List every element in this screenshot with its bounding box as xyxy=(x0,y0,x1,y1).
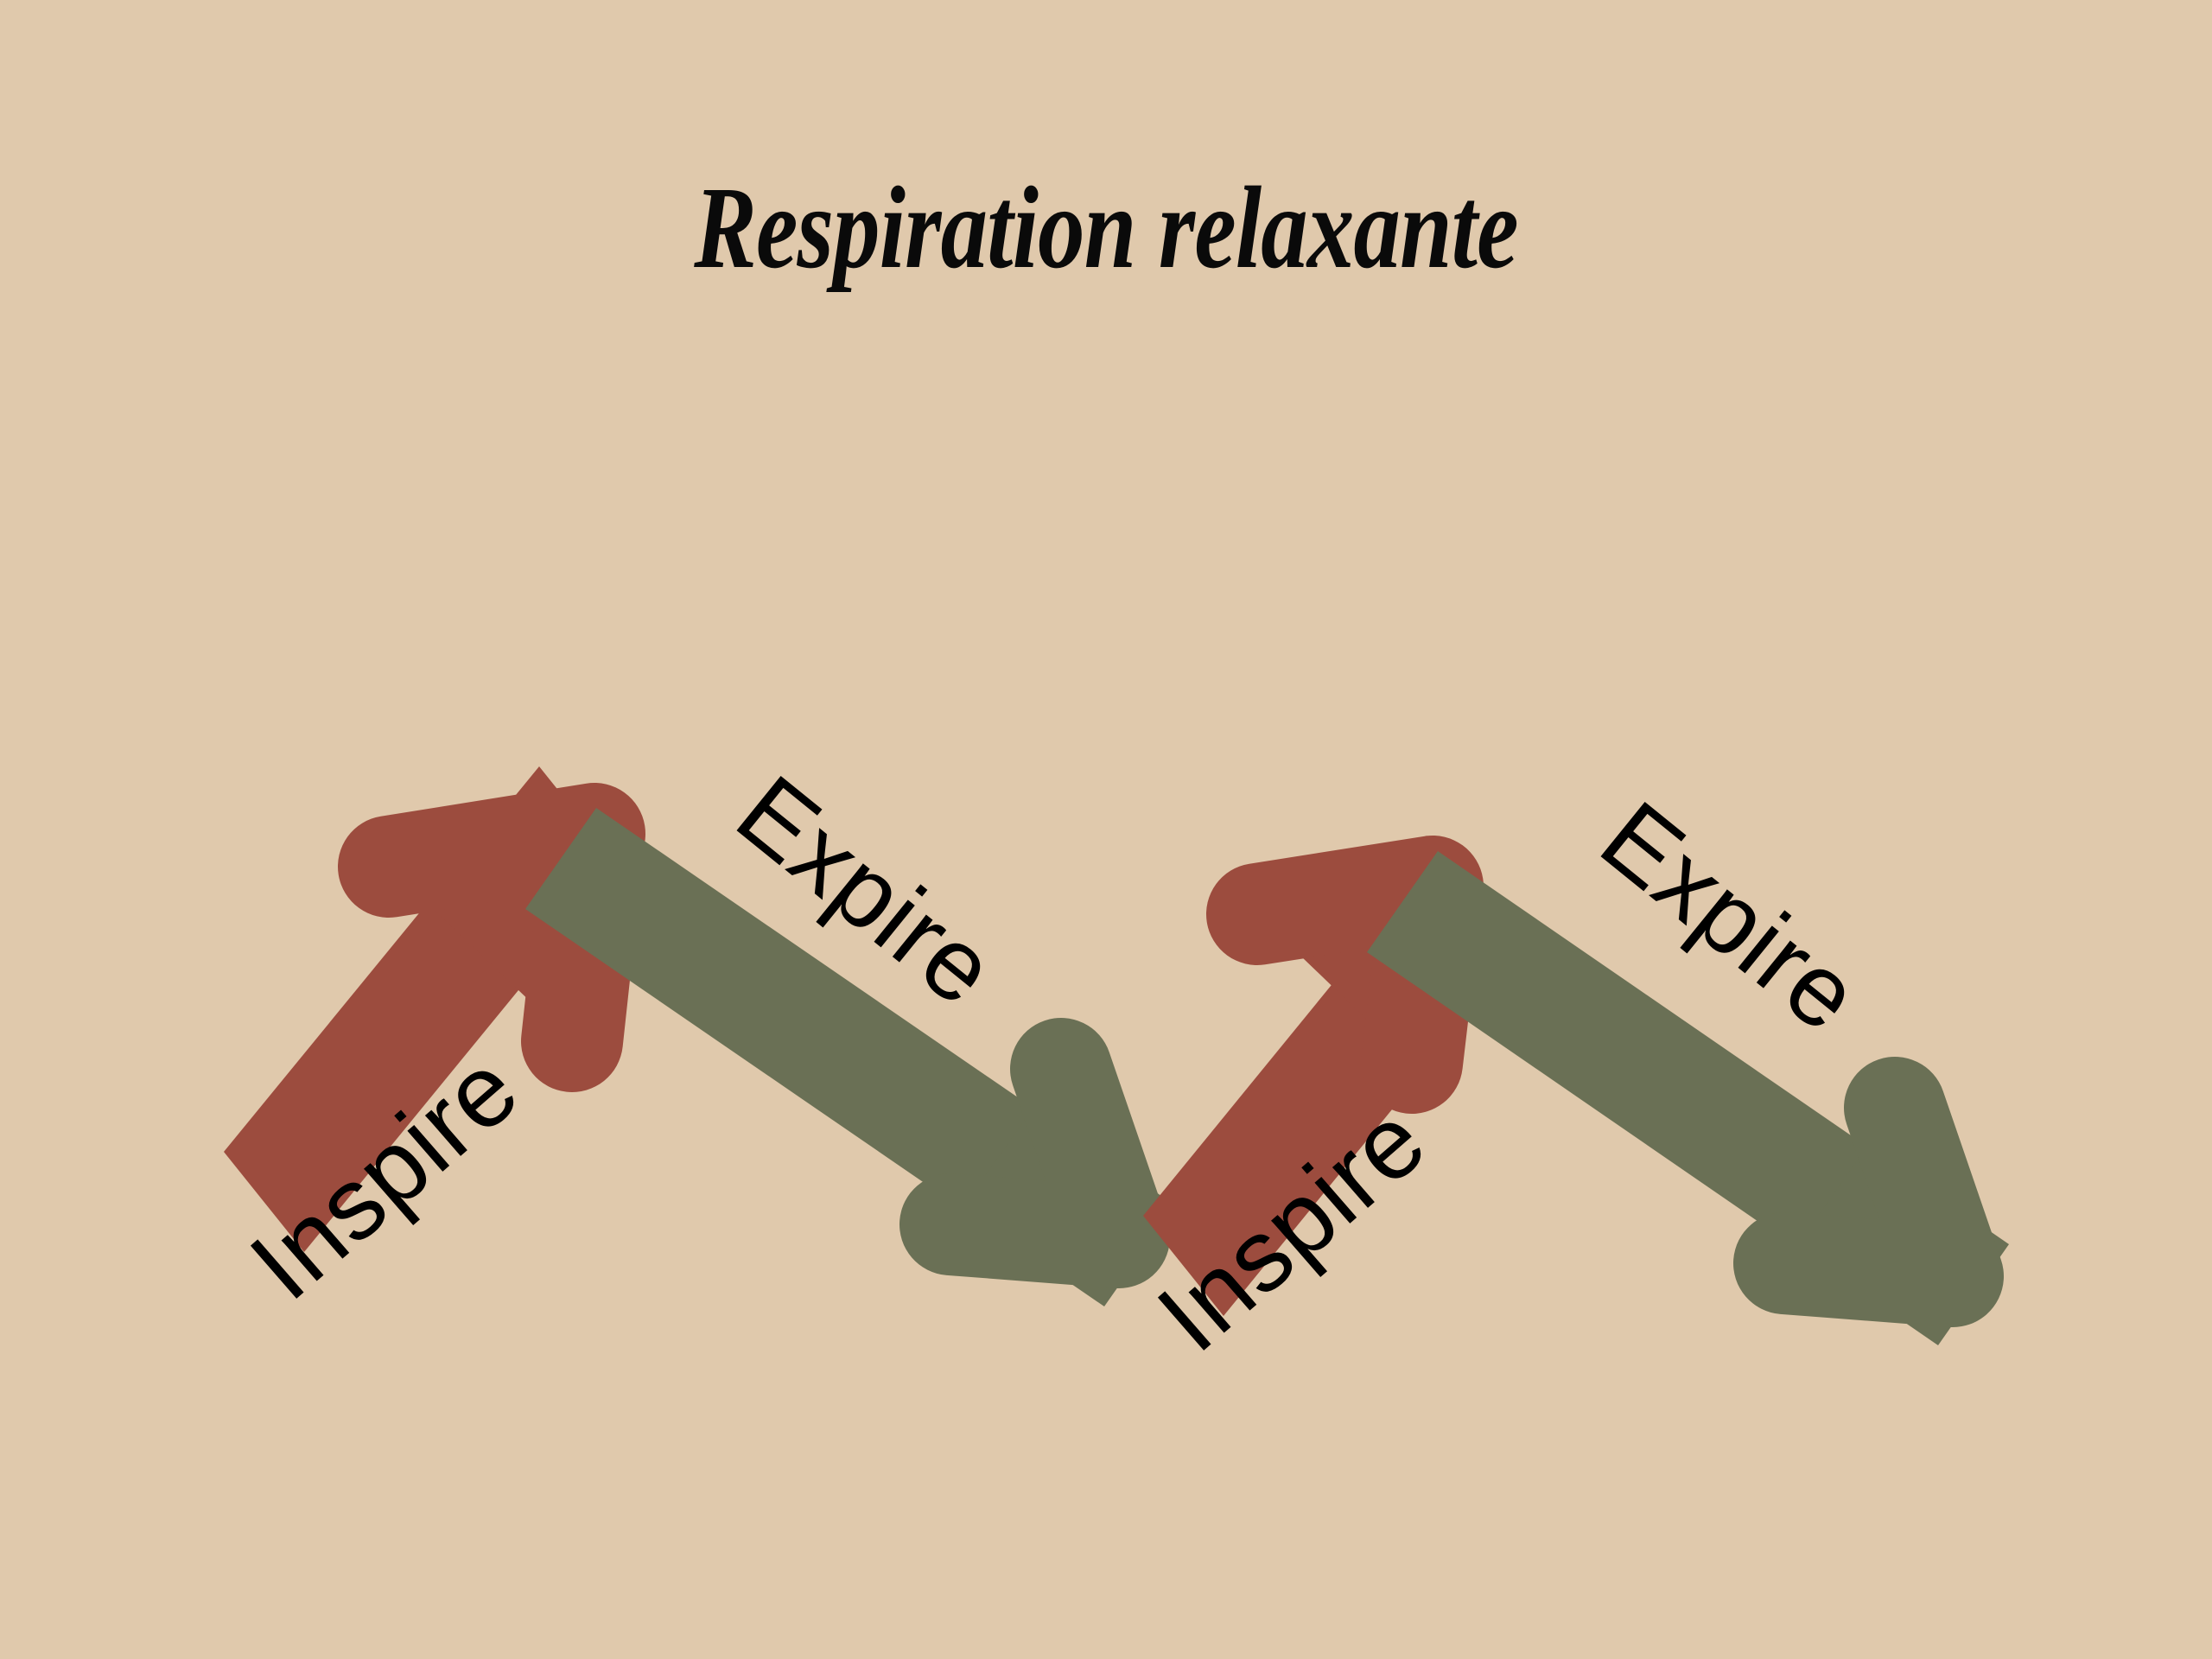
breathing-cycle-diagram: Inspire Expire Inspire Expire xyxy=(0,0,2212,1659)
slide-canvas: Respiration relaxante Inspire Expire Ins… xyxy=(0,0,2212,1659)
